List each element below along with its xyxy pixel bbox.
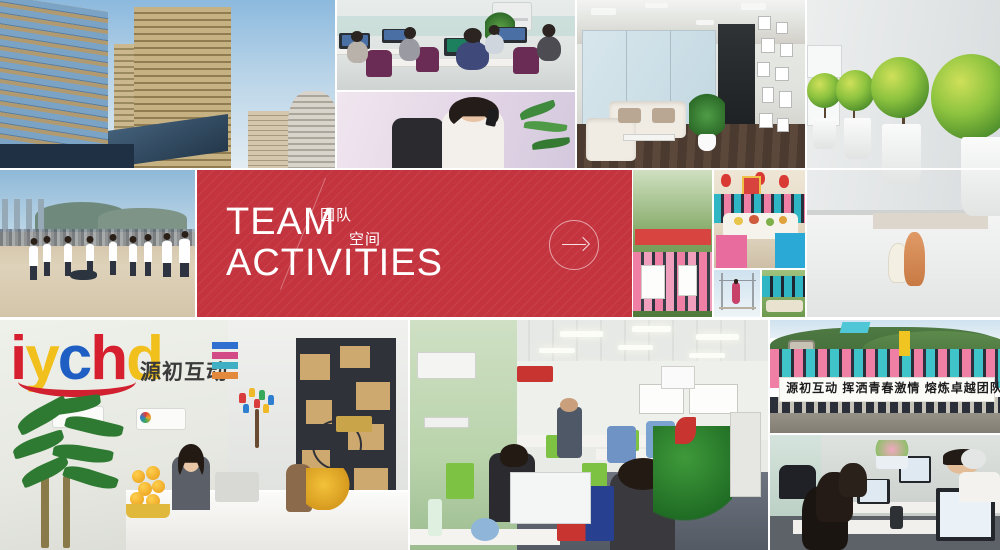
whiteboard xyxy=(689,384,738,414)
office-wall-band xyxy=(337,16,575,36)
building-curved-right xyxy=(288,91,335,168)
person xyxy=(716,235,748,268)
arrow-right-icon[interactable] xyxy=(549,220,599,270)
person xyxy=(347,41,368,63)
office-chair xyxy=(392,118,444,168)
person xyxy=(43,244,51,262)
person xyxy=(485,34,504,54)
standing-person xyxy=(557,407,582,458)
topiary-pot xyxy=(961,137,1000,217)
photo-ropes-course-activity[interactable] xyxy=(714,270,760,317)
beach-gear xyxy=(70,270,97,280)
gutter xyxy=(408,320,410,550)
photo-decorative-topiary[interactable] xyxy=(807,0,1000,318)
person xyxy=(144,242,152,262)
gutter xyxy=(337,90,575,92)
flower-arrangement xyxy=(306,468,350,510)
outdoor-banner-text: 源初互动 挥洒青春激情 熔炼卓越团队 xyxy=(786,379,1000,396)
office-chair xyxy=(366,50,392,77)
banner-cn-top: 团队 xyxy=(320,204,352,225)
ceiling-light xyxy=(741,3,766,10)
handprint-tree-decal xyxy=(237,388,277,450)
fruit-display xyxy=(126,460,170,518)
ceiling-light xyxy=(591,8,616,15)
hand-held-sign xyxy=(678,265,698,296)
person-head xyxy=(500,444,529,467)
gutter xyxy=(770,433,1000,435)
cushion xyxy=(618,108,641,123)
topiary-ball xyxy=(871,57,929,117)
lantern xyxy=(779,175,789,188)
wall-slogan-strips xyxy=(212,342,238,380)
wall-switch xyxy=(424,417,469,428)
building-foreground-glass xyxy=(0,0,107,168)
photo-reception-lounge[interactable] xyxy=(577,0,805,168)
topiary-pot xyxy=(882,124,921,184)
plant-pot xyxy=(698,134,716,151)
rope-pole xyxy=(721,273,723,311)
office-plant xyxy=(513,98,575,168)
photo-outdoor-games[interactable] xyxy=(762,270,807,317)
person xyxy=(399,38,420,61)
wall-poster xyxy=(661,366,695,389)
gutter xyxy=(760,270,762,318)
ceiling-light xyxy=(696,20,714,25)
award-plaque xyxy=(336,416,372,432)
photo-team-dining[interactable] xyxy=(714,170,807,268)
gutter xyxy=(712,170,714,318)
photo-office-building-exterior[interactable] xyxy=(0,0,335,168)
person xyxy=(162,241,172,263)
bamboo-plant xyxy=(10,398,130,548)
photo-team-group-banner[interactable] xyxy=(633,170,713,317)
photo-outdoor-team-photo[interactable]: 源初互动 挥洒青春激情 熔炼卓越团队 xyxy=(770,320,1000,433)
person xyxy=(537,36,561,61)
hand-held-sign xyxy=(641,265,665,299)
gutter xyxy=(0,317,1000,320)
person-body xyxy=(959,472,1000,502)
storage-cabinet xyxy=(730,412,761,497)
banner-cn-bottom: 空间 xyxy=(349,228,381,249)
dish xyxy=(734,217,742,225)
rope-pole xyxy=(752,273,754,311)
gutter xyxy=(575,0,577,170)
gutter xyxy=(805,0,807,320)
person xyxy=(775,233,805,268)
coffee-table xyxy=(623,134,675,141)
beach-skyline xyxy=(2,199,45,231)
person-hair xyxy=(839,463,867,498)
cushion xyxy=(652,108,675,123)
photo-office-desk-row[interactable] xyxy=(770,435,1000,550)
person xyxy=(129,244,137,262)
potted-plant xyxy=(689,92,725,139)
person xyxy=(29,246,38,266)
dish xyxy=(749,215,758,224)
photo-wall-frames xyxy=(753,13,803,147)
building-base xyxy=(0,144,134,168)
toy-figurine-giraffe xyxy=(904,232,925,286)
activity-table xyxy=(766,300,804,312)
water-bottle xyxy=(428,499,442,536)
desk-fan xyxy=(471,518,500,541)
flag xyxy=(899,331,911,356)
participants xyxy=(762,276,807,298)
flag xyxy=(840,322,870,333)
office-chair xyxy=(513,47,539,74)
team-activities-banner[interactable]: TEAM ACTIVITIES 团队 空间 xyxy=(197,170,632,317)
topiary-pot xyxy=(813,118,836,150)
banner-line-2: ACTIVITIES xyxy=(226,242,443,284)
laptop-screen xyxy=(510,472,591,525)
photo-beach-team-building[interactable] xyxy=(0,170,195,317)
large-office-plant xyxy=(653,426,732,532)
person xyxy=(86,244,94,261)
building-far-right xyxy=(248,111,292,168)
wall-control-panel xyxy=(417,352,476,379)
person xyxy=(109,242,117,261)
photo-company-reception[interactable]: iychd 源初互动 xyxy=(0,320,408,550)
desk xyxy=(517,435,667,447)
thermos xyxy=(890,506,904,529)
person xyxy=(64,244,72,262)
ceiling-light xyxy=(645,3,668,8)
reception-monitor xyxy=(215,472,259,502)
topiary-pot xyxy=(844,118,871,159)
photo-collage-page: iychd 源初互动 xyxy=(0,0,1000,550)
gutter xyxy=(768,320,770,550)
desk-partition xyxy=(446,463,475,500)
red-slogan-banner xyxy=(635,229,712,245)
flowers xyxy=(871,440,912,456)
climber xyxy=(732,282,739,304)
seated-person xyxy=(607,426,636,463)
wall-chinese-text xyxy=(517,366,553,382)
photo-office-workstations[interactable] xyxy=(337,0,575,90)
photo-open-plan-office[interactable] xyxy=(410,320,768,550)
gutter xyxy=(335,0,337,170)
rope-line xyxy=(719,307,757,309)
person xyxy=(179,239,190,263)
logo-swoosh xyxy=(18,366,136,397)
topiary-ball xyxy=(836,70,875,111)
photo-employee-on-phone[interactable] xyxy=(337,92,575,168)
partner-logo-icon xyxy=(140,412,151,423)
whiteboard xyxy=(639,384,684,414)
